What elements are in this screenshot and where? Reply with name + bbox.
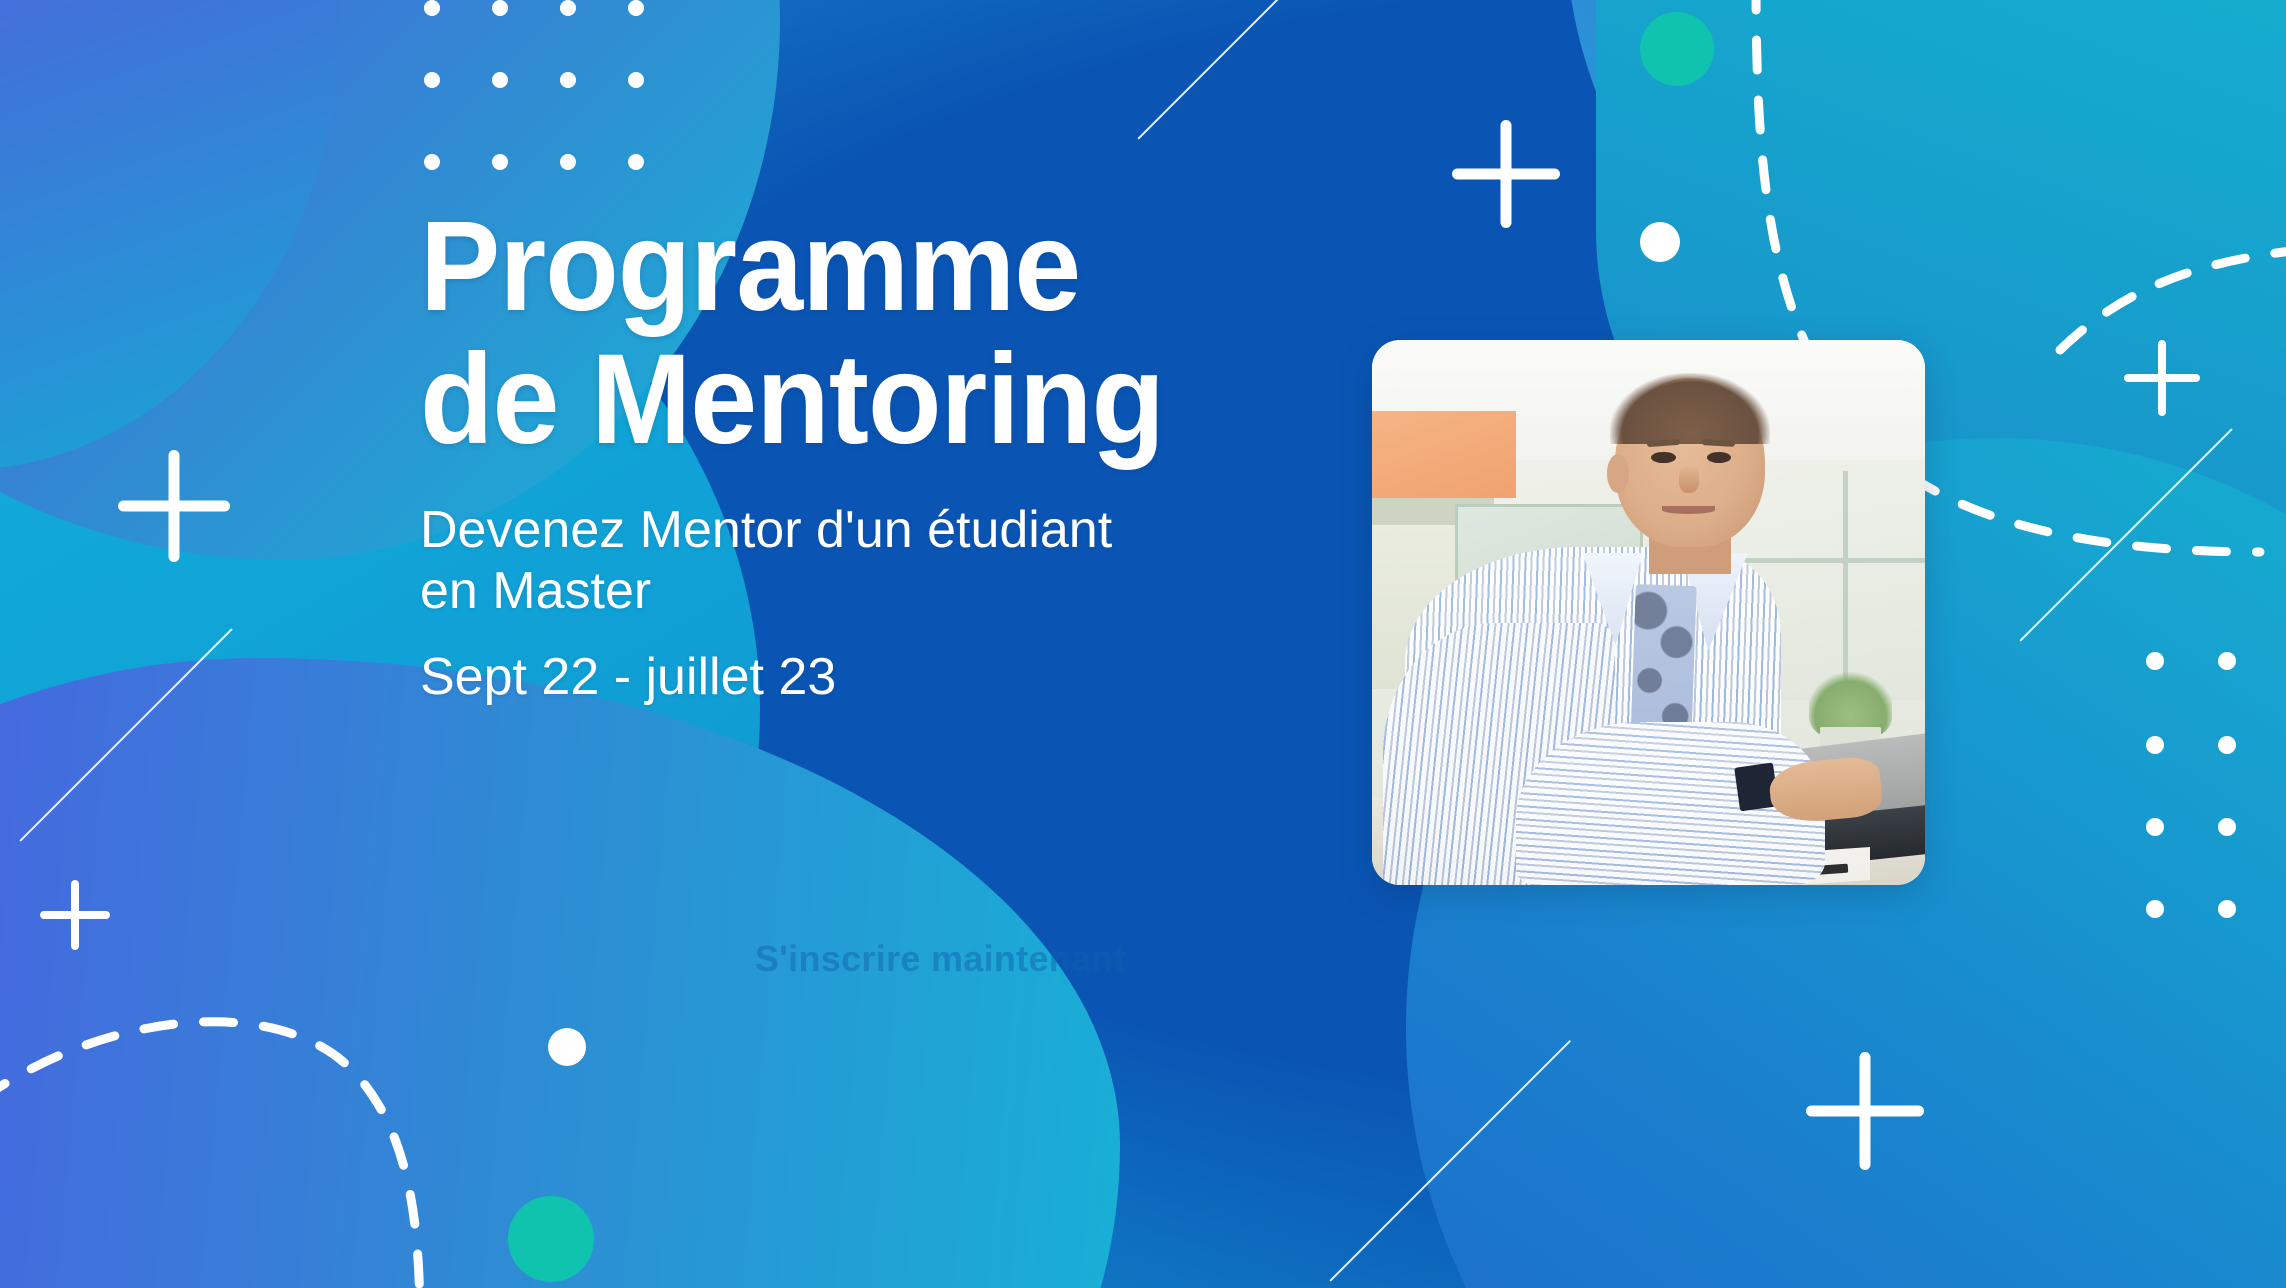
teal-circle-bottom-left [508,1196,594,1282]
grid-dot [492,72,508,88]
grid-dot [560,0,576,16]
photo-vignette [1372,340,1925,885]
page-title: Programme de Mentoring [420,200,1266,466]
dashed-curve-bottom-left [0,930,500,1288]
banner-dates: Sept 22 - juillet 23 [420,647,1320,707]
mentor-photo-card [1372,340,1925,885]
grid-dot [492,0,508,16]
grid-dot [2146,900,2164,918]
plus-icon-bottom-right [1806,1052,1924,1170]
grid-dot [2146,736,2164,754]
grid-dot [560,154,576,170]
banner-content: Programme de Mentoring Devenez Mentor d'… [420,200,1320,707]
teal-circle-top-right [1640,12,1714,86]
mentor-photo [1372,340,1925,885]
grid-dot [628,72,644,88]
white-dot-top-right [1640,222,1680,262]
grid-dot [424,72,440,88]
grid-dot [2218,818,2236,836]
grid-dot [2146,652,2164,670]
register-button[interactable]: S'inscrire maintenant [755,938,1126,980]
grid-dot [424,0,440,16]
grid-dot [424,154,440,170]
mentoring-banner: Programme de Mentoring Devenez Mentor d'… [0,0,2286,1288]
grid-dot [2218,652,2236,670]
banner-subtitle: Devenez Mentor d'un étudiant en Master [420,500,1320,621]
plus-icon-top-center [1452,120,1560,228]
grid-dot [2146,818,2164,836]
grid-dot [492,154,508,170]
grid-dot [628,0,644,16]
grid-dot [2218,736,2236,754]
grid-dot [560,72,576,88]
plus-icon-left [118,450,230,562]
plus-icon-right [2124,340,2200,416]
plus-icon-lower-left [40,880,110,950]
grid-dot [628,154,644,170]
grid-dot [2218,900,2236,918]
white-dot-bottom-left [548,1028,586,1066]
